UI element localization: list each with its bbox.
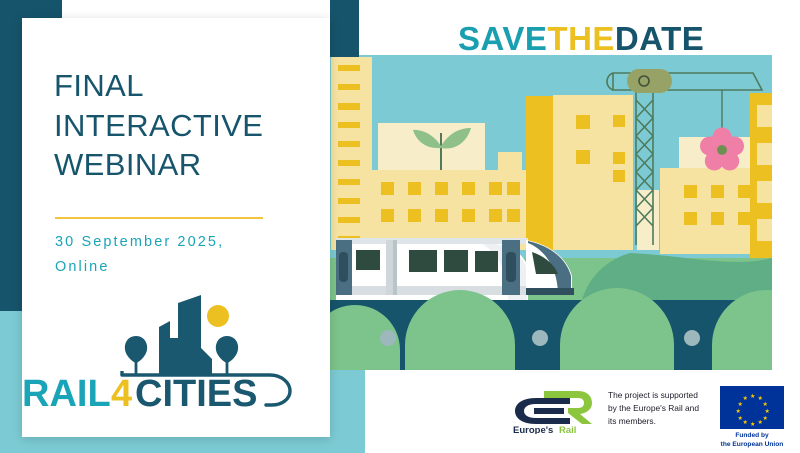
er-wordmark-right: Rail [559, 425, 576, 434]
poster-root: SAVETHEDATE FINAL INTERACTIVE WEBINAR 30… [0, 0, 800, 453]
page-title: FINAL INTERACTIVE WEBINAR [54, 66, 304, 185]
logo-word-rail: RAIL [22, 373, 111, 415]
logo-word-cities: CITIES [135, 373, 257, 415]
banner-word-date: DATE [615, 20, 704, 57]
banner-word-save: SAVE [458, 20, 547, 57]
rail4cities-logo: RAIL 4 CITIES [18, 293, 294, 415]
eu-funding-badge: ★ ★ ★ ★ ★ ★ ★ ★ ★ ★ ★ ★ Funded by the Eu… [714, 386, 790, 449]
tree-left [125, 336, 147, 375]
er-wordmark-left: Europe's [513, 425, 553, 434]
eu-caption-line2: the European Union [714, 441, 790, 450]
event-date: 30 September 2025, [55, 230, 305, 255]
navy-corner-block [330, 0, 359, 57]
europes-rail-logo: Europe's Rail [512, 386, 598, 434]
event-location: Online [55, 255, 305, 280]
event-details: 30 September 2025, Online [55, 230, 305, 281]
save-the-date-banner: SAVETHEDATE [458, 20, 704, 58]
title-divider [55, 217, 263, 219]
tree-right [216, 336, 238, 375]
eu-caption-line1: Funded by [714, 432, 790, 441]
eu-flag: ★ ★ ★ ★ ★ ★ ★ ★ ★ ★ ★ ★ [720, 386, 784, 429]
support-statement: The project is supported by the Europe's… [608, 389, 708, 428]
logo-word-four: 4 [111, 373, 132, 415]
train-windows [356, 250, 498, 272]
tall-tower-left-face [526, 96, 553, 250]
footer-logos: Europe's Rail The project is supported b… [512, 386, 790, 448]
banner-word-the: THE [547, 20, 615, 57]
eu-caption: Funded by the European Union [714, 432, 790, 449]
sun-icon [207, 305, 229, 327]
